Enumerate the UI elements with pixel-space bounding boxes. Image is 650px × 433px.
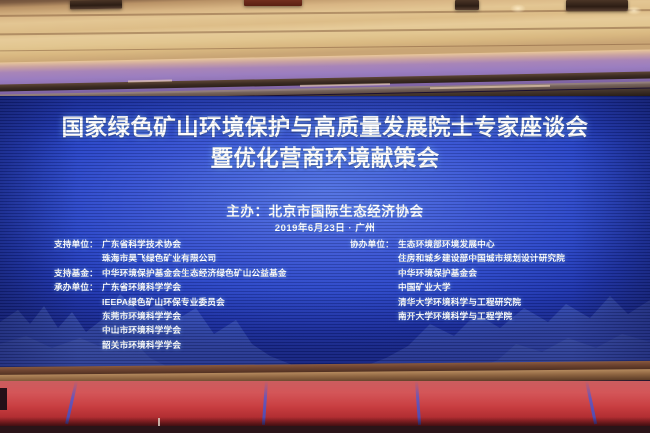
org-value: 珠海市昊飞绿色矿业有限公司 [102, 252, 216, 264]
floor-sheen [0, 381, 650, 407]
org-row: 南开大学环境科学与工程学院 [350, 310, 650, 324]
stage-floor [0, 381, 650, 433]
org-row: 支持单位： 广东省科学技术协会 [54, 238, 344, 252]
org-value: IEEPA绿色矿山环保专业委员会 [102, 296, 225, 308]
org-row: 协办单位： 生态环境部环境发展中心 [350, 238, 650, 252]
ceiling-light-glow [626, 6, 642, 15]
org-label: 协办单位： [350, 238, 398, 250]
ceiling-light-glow [510, 4, 526, 13]
ceiling-seam [0, 9, 650, 17]
right-organization-column: 协办单位： 生态环境部环境发展中心 住房和城乡建设部中国城市规划设计研究院 中华… [350, 238, 650, 324]
ceiling-light-fixture [455, 0, 479, 10]
event-host-line: 主办：北京市国际生态经济协会 [0, 200, 650, 220]
conference-hall-photo: 国家绿色矿山环境保护与高质量发展院士专家座谈会 暨优化营商环境献策会 主办：北京… [0, 0, 650, 433]
org-value: 广东省科学技术协会 [102, 238, 181, 250]
org-label: 支持基金： [54, 267, 102, 279]
ceiling-seam [0, 27, 650, 36]
org-row: 东莞市环境科学学会 [54, 310, 344, 324]
org-value: 广东省环境科学学会 [102, 281, 181, 293]
org-row: 清华大学环境科学与工程研究院 [350, 296, 650, 310]
org-value: 东莞市环境科学学会 [102, 310, 181, 322]
org-value: 住房和城乡建设部中国城市规划设计研究院 [398, 252, 565, 264]
org-value: 清华大学环境科学与工程研究院 [398, 296, 521, 308]
organization-columns: 支持单位： 广东省科学技术协会 珠海市昊飞绿色矿业有限公司 支持基金： 中华环境… [0, 238, 650, 353]
ceiling-light-fixture [70, 0, 122, 9]
org-value: 中山市环境科学学会 [102, 324, 181, 336]
screen-content: 国家绿色矿山环境保护与高质量发展院士专家座谈会 暨优化营商环境献策会 主办：北京… [0, 96, 650, 368]
org-row: 承办单位： 广东省环境科学学会 [54, 281, 344, 295]
stage-microphone-stand [158, 418, 160, 426]
org-value: 中华环境保护基金会 [398, 267, 477, 279]
org-value: 南开大学环境科学与工程学院 [398, 310, 512, 322]
org-row: 中山市环境科学学会 [54, 324, 344, 338]
org-row: 支持基金： 中华环境保护基金会生态经济绿色矿山公益基金 [54, 267, 344, 281]
org-value: 中国矿业大学 [398, 281, 451, 293]
ceiling-seam [0, 44, 650, 52]
org-row: 珠海市昊飞绿色矿业有限公司 [54, 252, 344, 266]
ceiling-light-fixture [244, 0, 302, 6]
org-value: 生态环境部环境发展中心 [398, 238, 495, 250]
ceiling-light-fixture [566, 0, 628, 11]
org-label: 支持单位： [54, 238, 102, 250]
event-title-line-1: 国家绿色矿山环境保护与高质量发展院士专家座谈会 [0, 112, 650, 143]
event-date-location: 2019年6月23日 · 广州 [0, 220, 650, 234]
stage-side-post [0, 388, 7, 410]
org-row: 中华环境保护基金会 [350, 267, 650, 281]
org-label: 承办单位： [54, 281, 102, 293]
led-display-screen: 国家绿色矿山环境保护与高质量发展院士专家座谈会 暨优化营商环境献策会 主办：北京… [0, 96, 650, 368]
org-row: IEEPA绿色矿山环保专业委员会 [54, 296, 344, 310]
org-row: 中国矿业大学 [350, 281, 650, 295]
org-row: 韶关市环境科学学会 [54, 339, 344, 353]
org-value: 韶关市环境科学学会 [102, 339, 181, 351]
event-title-block: 国家绿色矿山环境保护与高质量发展院士专家座谈会 暨优化营商环境献策会 [0, 112, 650, 174]
event-title-line-2: 暨优化营商环境献策会 [0, 143, 650, 174]
org-value: 中华环境保护基金会生态经济绿色矿山公益基金 [102, 267, 287, 279]
org-row: 住房和城乡建设部中国城市规划设计研究院 [350, 252, 650, 266]
left-organization-column: 支持单位： 广东省科学技术协会 珠海市昊飞绿色矿业有限公司 支持基金： 中华环境… [54, 238, 344, 353]
floor-front-edge [0, 426, 650, 433]
